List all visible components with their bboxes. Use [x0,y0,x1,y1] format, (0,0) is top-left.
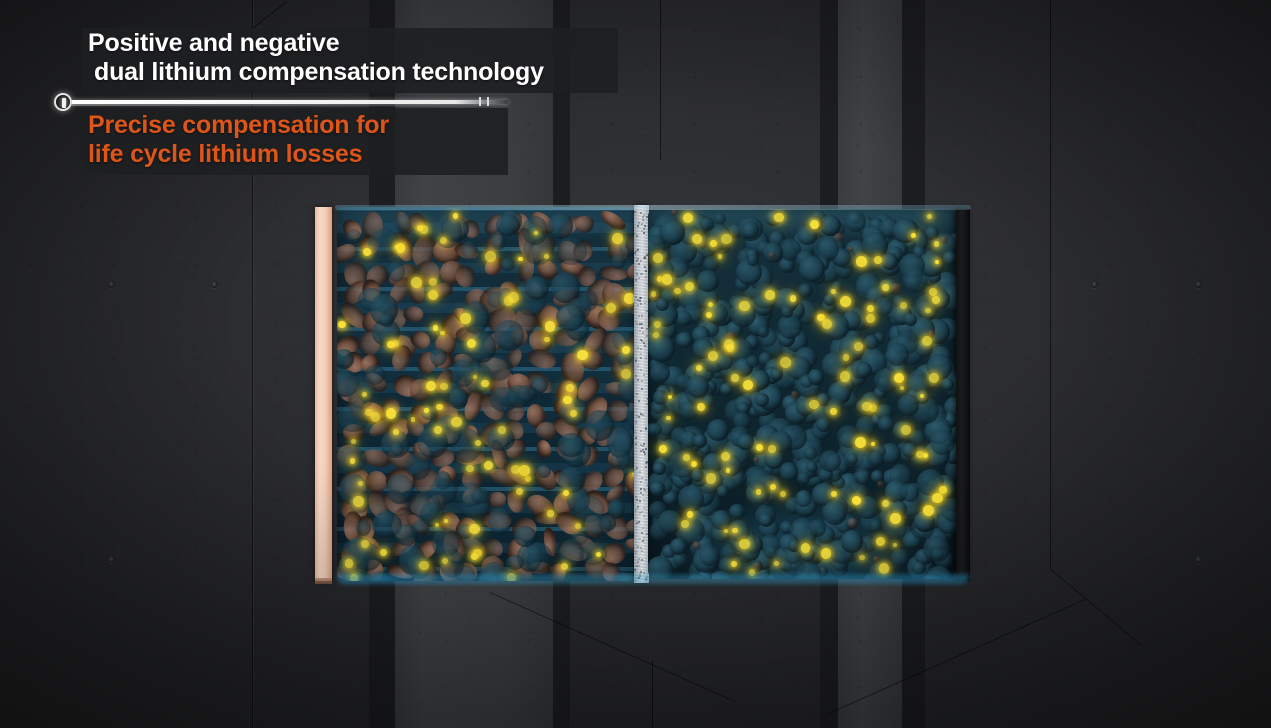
scene-root: Positive and negative dual lithium compe… [0,0,1271,728]
separator-speckle [636,235,638,237]
separator-speckle [640,488,642,490]
separator-speckle [641,327,643,329]
separator-speckle [637,249,639,251]
separator-speckle [643,374,645,376]
lithium-ion [393,429,399,435]
electrode-particle [558,467,585,492]
electrode-particle [717,485,730,498]
lithium-ion [481,380,488,387]
separator-speckle [640,339,642,341]
lithium-ion [651,291,656,296]
separator-speckle [635,509,637,511]
separator-speckle [638,277,640,279]
lithium-ion [426,381,436,391]
lithium-ion [731,374,738,381]
lithium-ion [932,493,943,504]
separator-speckle [637,304,639,306]
electrode-particle [432,528,460,557]
electrode-particle [816,417,831,432]
electrode-particle [720,383,733,396]
electrode-particle [417,427,448,458]
separator-speckle [638,315,640,317]
lithium-ion [890,513,901,524]
separator-speckle [636,260,638,262]
electrode-particle [494,320,525,351]
electrode-particle [754,562,761,569]
lithium-ion [696,365,702,371]
electrode-particle [870,519,882,531]
electrode-particle [714,213,726,225]
separator-speckle [635,360,637,362]
lithium-ion [809,400,819,410]
electrode-particle [943,251,956,264]
separator-speckle [643,488,645,490]
electrode-particle [700,217,714,231]
lithium-ion [666,416,670,420]
separator-speckle [643,507,645,509]
lithium-ion [867,305,875,313]
separator-speckle [635,358,637,360]
electrode-particle [940,236,948,244]
separator-speckle [635,421,637,423]
electrode-particle [753,457,759,463]
electrode-particle [873,556,880,563]
electrode-particle [430,348,447,366]
lithium-ion [436,404,442,410]
lithium-ion [662,274,673,285]
separator-speckle [642,216,644,218]
electrode-particle [580,542,606,565]
electrode-particle [893,219,917,243]
lithium-ion [756,489,761,494]
lithium-ion [434,426,441,433]
separator-speckle [640,348,642,350]
separator-speckle [637,347,639,349]
divider-line-shadow [72,104,508,106]
electrode-particle [429,478,458,505]
lithium-ion [451,417,461,427]
electrode-particle [819,450,841,472]
separator-speckle [639,538,641,540]
separator-speckle [636,273,638,275]
electrode-particle [755,393,769,407]
lithium-ion [371,412,380,421]
subtitle-line-1: Precise compensation for [88,111,389,139]
electrode-particle [809,519,826,536]
lithium-ion [697,403,705,411]
lithium-ion [442,558,448,564]
anode-layer [648,209,956,579]
separator-speckle [645,448,647,450]
lithium-ion [934,241,939,246]
lithium-ion [417,225,423,231]
lithium-ion [612,233,623,244]
title-line-1: Positive and negative [88,29,339,57]
separator-speckle [635,496,637,498]
lithium-ion [855,437,866,448]
lithium-ion [544,254,549,259]
lithium-ion [925,308,930,313]
electrode-particle [891,283,901,293]
lithium-ion [621,369,631,379]
separator-speckle [645,466,647,468]
lithium-ion [893,543,897,547]
electrode-particle [697,270,719,292]
separator-speckle [639,512,641,514]
separator-speckle [642,449,644,451]
lithium-ion [840,296,851,307]
separator-speckle [637,561,639,563]
electrode-particle [671,209,678,216]
separator-membrane [634,205,649,583]
separator-speckle [644,257,646,259]
lithium-ion [724,529,728,533]
lithium-ion [411,277,422,288]
separator-speckle [640,547,642,549]
separator-speckle [644,302,646,304]
separator-speckle [642,332,644,334]
lithium-ion [859,555,865,561]
electrode-particle [903,268,928,293]
separator-speckle [640,303,642,305]
lithium-ion [739,301,749,311]
separator-speckle [640,297,642,299]
page-subtitle: Precise compensation for life cycle lith… [88,111,518,169]
separator-speckle [644,345,646,347]
lithium-ion [471,553,478,560]
separator-speckle [640,571,642,573]
electrode-particle [500,258,515,271]
separator-speckle [634,569,636,571]
lithium-ion [923,453,928,458]
lithium-ion [900,386,904,390]
lithium-ion [353,496,364,507]
separator-speckle [644,453,646,455]
separator-speckle [634,469,636,471]
lithium-ion [392,340,399,347]
separator-speckle [636,415,638,417]
electrode-particle [877,481,884,488]
lithium-ion [525,476,532,483]
electrode-particle [847,453,859,465]
lithium-ion [882,500,889,507]
electrode-particle [386,474,414,504]
separator-speckle [638,416,640,418]
lithium-ion [866,314,875,323]
separator-speckle [640,353,642,355]
lithium-ion [852,496,861,505]
electrode-particle [579,291,598,311]
electrode-particle [804,447,817,460]
lithium-ion [768,445,776,453]
lithium-ion [770,484,776,490]
lithium-ion [519,465,530,476]
electrode-particle [898,394,920,416]
separator-speckle [640,273,642,275]
separator-speckle [639,471,641,473]
electrode-particle [449,388,469,409]
separator-speckle [643,515,645,517]
electrode-particle [768,252,775,259]
lithium-ion [351,439,356,444]
lithium-ion [927,214,932,219]
lithium-ion [683,454,690,461]
electrode-particle [848,518,859,529]
separator-speckle [640,430,642,432]
lithium-ion [882,284,888,290]
electrode-particle [506,555,524,570]
separator-speckle [643,228,645,230]
lithium-ion [840,371,851,382]
separator-speckle [639,500,641,502]
electrode-particle [875,297,893,315]
lithium-ion [706,473,717,484]
separator-speckle [637,506,639,508]
lithium-ion [724,339,735,350]
electrode-particle [598,207,629,233]
electrode-particle [611,254,625,269]
page-title: Positive and negative dual lithium compe… [88,29,628,87]
electrode-particle [555,237,586,265]
electrode-particle [337,405,369,431]
electrode-particle [496,214,520,236]
separator-speckle [641,388,643,390]
separator-speckle [636,393,638,395]
separator-speckle [639,330,641,332]
electrode-particle [806,461,818,473]
separator-speckle [635,443,637,445]
lithium-ion [498,426,506,434]
lithium-ion [424,408,429,413]
separator-speckle [641,477,643,479]
lithium-ion [466,465,473,472]
lithium-ion [460,313,471,324]
lithium-ion [856,256,867,267]
electrode-particle [535,438,553,459]
lithium-ion [894,373,904,383]
electrode-particle [749,469,773,493]
divider-tick-2 [487,97,489,106]
lithium-ion [830,408,837,415]
electrode-particle [676,332,693,349]
separator-speckle [640,212,642,214]
slider-knob-icon[interactable] [54,93,72,111]
lithium-ion [547,510,553,516]
electrode-particle [797,472,810,485]
lithium-ion [691,461,697,467]
separator-speckle [645,276,647,278]
separator-speckle [638,565,640,567]
electrode-particle [788,539,800,551]
electrode-particle [808,369,824,385]
electrode-particle [347,229,362,244]
separator-speckle [642,527,644,529]
separator-speckle [635,437,637,439]
separator-speckle [644,225,646,227]
electrode-particle [878,416,894,432]
lithium-ion [801,543,810,552]
lithium-ion [780,491,786,497]
lithium-ion [687,511,693,517]
electrode-particle [488,508,511,535]
electrode-particle [823,500,847,524]
electrode-particle [737,434,753,450]
cell-bottom-glow [337,574,969,584]
separator-speckle [637,379,639,381]
divider-tick-1 [479,97,481,106]
electrode-particle [778,314,803,339]
lithium-ion [774,213,784,223]
separator-speckle [639,323,641,325]
electrode-particle [608,499,625,519]
separator-speckle [636,522,638,524]
cell-top-edge [335,205,971,210]
lithium-ion [386,408,396,418]
separator-speckle [634,431,636,433]
separator-speckle [635,551,637,553]
separator-speckle [642,494,644,496]
electrode-particle [650,363,670,383]
lithium-ion [380,549,387,556]
separator-speckle [642,445,644,447]
separator-speckle [636,499,638,501]
separator-speckle [645,270,647,272]
lithium-ion [739,539,749,549]
separator-speckle [643,232,645,234]
separator-speckle [636,323,638,325]
electrode-particle [356,520,371,537]
lithium-ion [732,528,737,533]
lithium-ion [932,296,940,304]
lithium-ion [577,350,587,360]
lithium-ion [685,282,694,291]
lithium-ion [876,537,885,546]
title-line-2: dual lithium compensation technology [88,58,628,87]
lithium-ion [561,563,568,570]
lithium-ion [361,540,369,548]
electrode-particle [747,254,759,266]
electrode-particle [699,544,721,566]
lithium-ion [879,563,890,574]
electrode-particle [433,215,462,248]
electrode-particle [687,375,709,397]
separator-speckle [634,252,636,254]
separator-speckle [640,260,642,262]
separator-speckle [635,375,637,377]
separator-speckle [641,550,643,552]
electrode-particle [758,326,769,337]
lithium-ion [923,505,934,516]
lithium-ion [338,321,345,328]
separator-speckle [637,546,639,548]
electrode-particle [491,233,506,250]
electrode-particle [780,462,798,480]
lithium-ion [821,548,832,559]
separator-speckle [637,225,639,227]
electrode-particle [558,433,584,456]
separator-speckle [635,296,637,298]
lithium-ion [469,524,480,535]
separator-speckle [644,266,646,268]
lithium-ion [563,396,571,404]
electrode-particle [856,362,872,378]
electrode-particle [537,464,551,478]
separator-speckle [642,540,644,542]
electrode-particle [869,451,884,466]
electrode-particle [798,283,813,298]
positive-current-collector [315,207,332,581]
separator-speckle [641,532,643,534]
lithium-ion [566,384,574,392]
separator-speckle [640,450,642,452]
separator-speckle [640,369,642,371]
electrode-particle [548,213,573,239]
lithium-ion [440,383,448,391]
lithium-ion [810,220,819,229]
separator-speckle [641,223,643,225]
electrode-particle [854,468,871,485]
electrode-particle [471,488,491,504]
lithium-ion [862,402,872,412]
lithium-ion [544,337,549,342]
separator-speckle [643,342,645,344]
electrode-particle [653,462,666,475]
negative-current-collector [956,209,970,581]
lithium-ion [822,319,832,329]
separator-speckle [645,428,647,430]
separator-speckle [640,357,642,359]
separator-speckle [641,511,643,513]
electrode-particle [525,347,558,372]
electrode-particle [525,276,549,300]
separator-speckle [638,558,640,560]
separator-speckle [637,365,639,367]
lithium-ion [726,468,730,472]
electrode-particle [648,335,675,362]
separator-speckle [635,321,637,323]
lithium-ion [718,254,722,258]
lithium-cell-diagram [315,205,971,583]
lithium-ion [843,354,850,361]
separator-speckle [641,323,643,325]
lithium-ion [428,290,438,300]
separator-speckle [643,499,645,501]
electrode-particle [716,353,733,370]
electrode-particle [368,229,400,258]
separator-speckle [638,222,640,224]
lithium-ion [653,332,659,338]
separator-speckle [641,559,643,561]
electrode-particle [585,514,612,536]
lithium-ion [433,325,439,331]
separator-speckle [635,279,637,281]
lithium-ion [710,240,717,247]
lithium-ion [350,458,356,464]
electrode-particle [455,355,481,382]
separator-speckle [638,400,640,402]
cathode-layer [337,207,649,581]
electrode-particle [388,261,406,282]
electrode-particle [395,214,411,233]
separator-speckle [634,211,636,213]
lithium-ion [411,417,415,421]
lithium-ion [765,290,774,299]
separator-speckle [643,537,645,539]
lithium-ion [453,213,459,219]
lithium-ion [518,257,522,261]
electrode-particle [781,306,793,318]
electrode-particle [365,365,386,385]
